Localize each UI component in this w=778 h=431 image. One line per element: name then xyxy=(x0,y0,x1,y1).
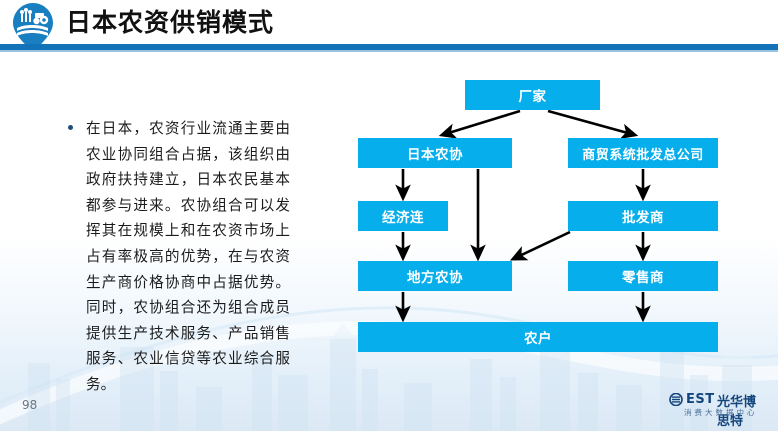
supply-chain-diagram: 厂家 日本农协 商贸系统批发总公司 经济连 批发商 地方农协 零售商 农户 xyxy=(330,62,750,362)
diagram-node-econ[interactable]: 经济连 xyxy=(358,201,448,231)
bullet-marker-icon xyxy=(68,125,73,130)
best-logo-icon xyxy=(668,393,684,406)
brand-tagline: 消费大数据中心 xyxy=(684,407,758,418)
slide-canvas: 日本农资供销模式 在日本，农资行业流通主要由农业协同组合占据，该组织由政府扶持建… xyxy=(0,0,778,431)
diagram-node-local-coop[interactable]: 地方农协 xyxy=(358,261,512,291)
slide-header: 日本农资供销模式 xyxy=(0,0,778,52)
brand-name-en: EST xyxy=(686,392,715,407)
bullet-paragraph-block: 在日本，农资行业流通主要由农业协同组合占据，该组织由政府扶持建立，日本农民基本都… xyxy=(68,116,290,398)
brand-logo: EST 光华博思特 消费大数据中心 xyxy=(668,392,768,422)
diagram-node-jp-coop[interactable]: 日本农协 xyxy=(358,138,512,168)
diagram-node-retailer[interactable]: 零售商 xyxy=(568,261,718,291)
header-rule-light xyxy=(0,50,778,52)
page-title: 日本农资供销模式 xyxy=(66,5,274,41)
body-paragraph: 在日本，农资行业流通主要由农业协同组合占据，该组织由政府扶持建立，日本农民基本都… xyxy=(86,116,290,398)
diagram-node-trade[interactable]: 商贸系统批发总公司 xyxy=(568,138,718,168)
diagram-node-farmer[interactable]: 农户 xyxy=(358,322,718,352)
page-number: 98 xyxy=(22,398,37,412)
diagram-node-wholesaler[interactable]: 批发商 xyxy=(568,201,718,231)
diagram-node-maker[interactable]: 厂家 xyxy=(465,80,600,110)
